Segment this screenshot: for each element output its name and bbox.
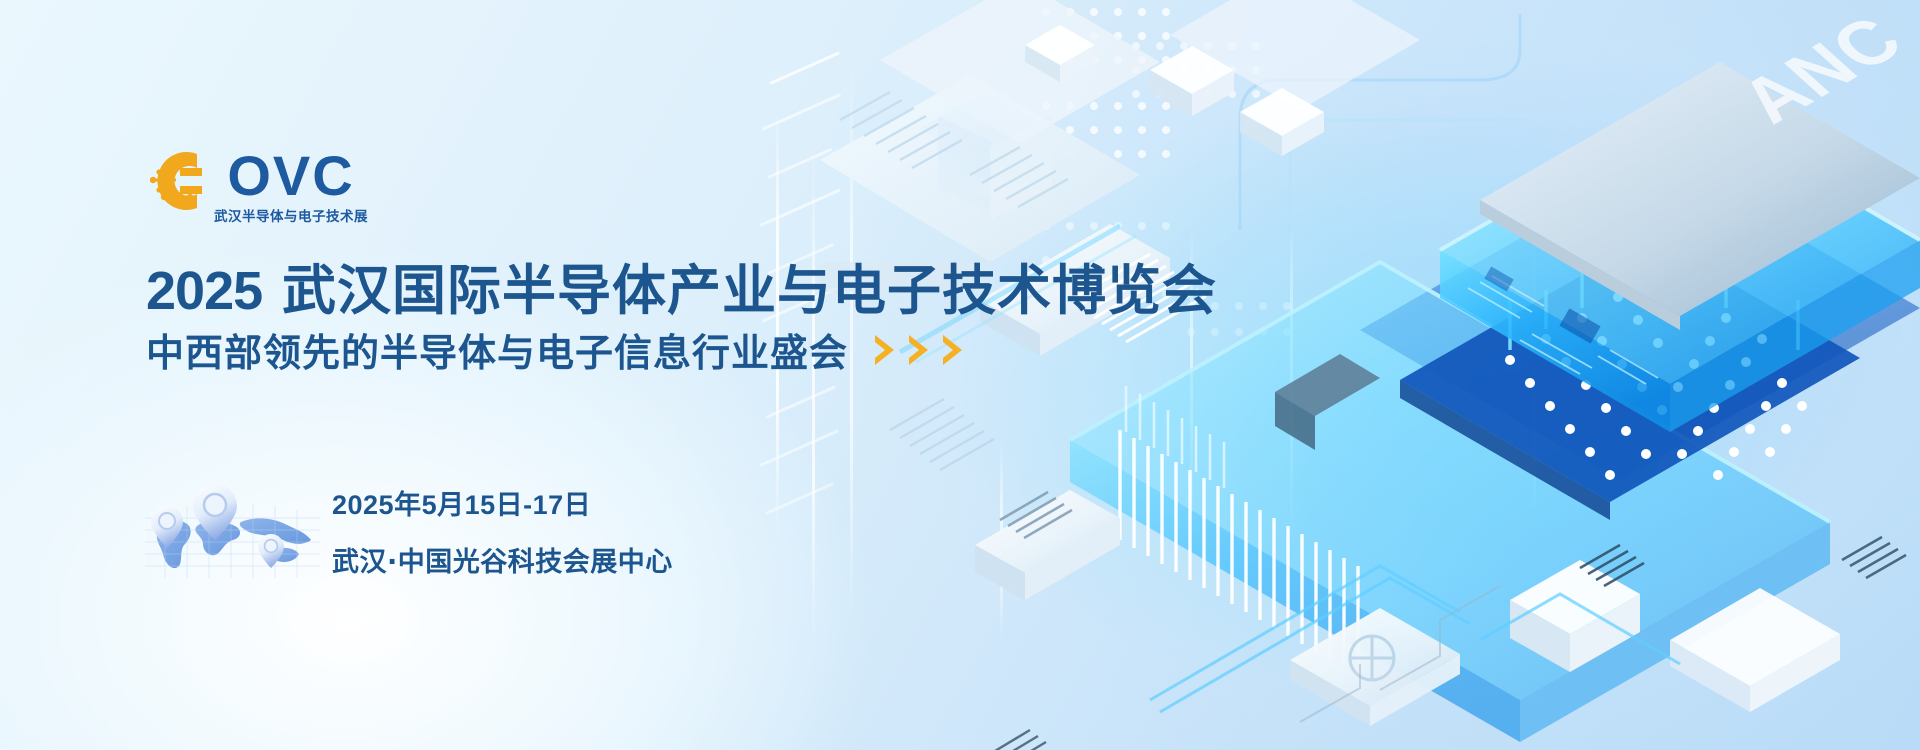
world-map-pins-icon <box>145 478 320 583</box>
logo-wordmark: OVC <box>227 150 354 202</box>
map-pin-icon <box>258 534 284 568</box>
chevron-right-icon <box>872 333 898 367</box>
subtitle-row: 中西部领先的半导体与电子信息行业盛会 <box>146 322 974 377</box>
event-details-text: 2025年5月15日-17日 武汉·中国光谷科技会展中心 <box>332 483 673 579</box>
event-venue: 武汉·中国光谷科技会展中心 <box>332 540 673 579</box>
chevron-right-icon <box>940 333 966 367</box>
event-banner: ANC <box>0 0 1920 750</box>
title-year: 2025 <box>146 261 262 321</box>
event-details: 2025年5月15日-17日 武汉·中国光谷科技会展中心 <box>145 478 673 583</box>
ovc-logo[interactable]: OVC 武汉半导体与电子技术展 <box>150 150 368 225</box>
logo-tagline: 武汉半导体与电子技术展 <box>214 205 368 225</box>
page-subtitle: 中西部领先的半导体与电子信息行业盛会 <box>146 322 848 377</box>
chevron-group <box>872 333 974 367</box>
circuit-c-icon <box>150 150 208 212</box>
page-title: 2025 武汉国际半导体产业与电子技术博览会 <box>146 246 1217 325</box>
event-date: 2025年5月15日-17日 <box>332 483 673 522</box>
chevron-right-icon <box>906 333 932 367</box>
title-main: 武汉国际半导体产业与电子技术博览会 <box>282 259 1217 322</box>
banner-content: OVC 武汉半导体与电子技术展 2025 武汉国际半导体产业与电子技术博览会 中… <box>0 0 1100 750</box>
